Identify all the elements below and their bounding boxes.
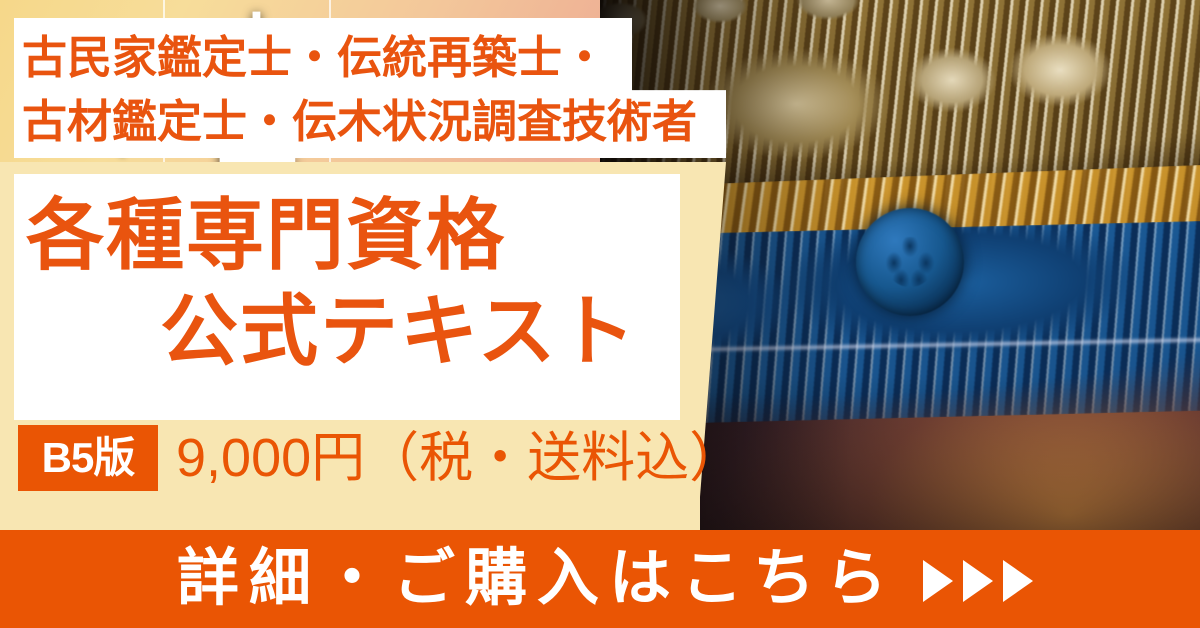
title-line-1: 各種専門資格 — [26, 196, 506, 274]
headline-line-2: 古材鑑定士・伝木状況調査技術者 — [22, 90, 722, 154]
promo-banner[interactable]: 伝統構法、古民家活用のための調査と再生の 古民家 古民家鑑定士・伝統再築士・ 古… — [0, 0, 1200, 628]
price-text: 9,000円（税・送料込） — [176, 427, 743, 489]
headline-text: 古民家鑑定士・伝統再築士・ 古材鑑定士・伝木状況調査技術者 — [22, 26, 722, 154]
headline-line-1: 古民家鑑定士・伝統再築士・ — [22, 26, 722, 90]
arrow-right-icon-1 — [923, 560, 953, 602]
cta-label: 詳細・ご購入はこちら — [167, 548, 897, 610]
format-badge: B5版 — [18, 425, 158, 491]
cta-content[interactable]: 詳細・ご購入はこちら — [0, 530, 1200, 628]
cta-bar[interactable]: 詳細・ご購入はこちら — [0, 530, 1200, 628]
title-line-2: 公式テキスト — [160, 292, 638, 370]
arrow-right-icon-2 — [963, 560, 993, 602]
arrow-triple-icon — [923, 560, 1033, 602]
arrow-right-icon-3 — [1003, 560, 1033, 602]
